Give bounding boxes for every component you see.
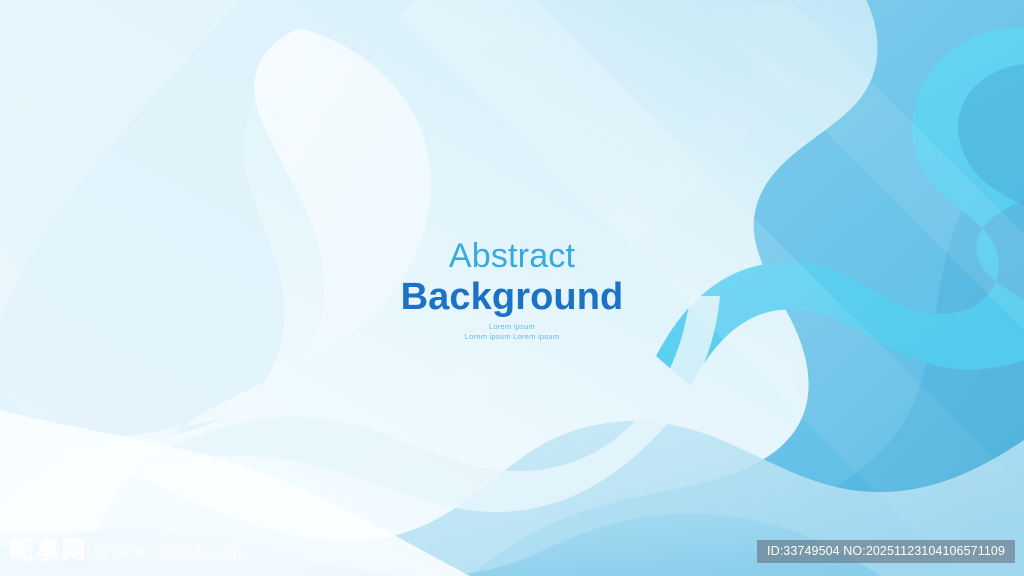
watermark-char-1: 昵	[10, 538, 33, 564]
image-id-text: ID:33749504 NO:20251123104106571109	[767, 540, 1005, 563]
watermark-logo-cjk: 昵 享 网	[10, 538, 85, 564]
artboard	[0, 0, 1024, 576]
watermark-char-2: 享	[36, 538, 59, 564]
abstract-background-artwork: Abstract Background Lorem ipsum Lorem ip…	[0, 0, 1024, 576]
watermark-url: www.nipic.cn	[93, 539, 249, 563]
background-illustration	[0, 0, 1024, 576]
watermark-char-3: 网	[62, 538, 85, 564]
image-id-badge: ID:33749504 NO:20251123104106571109	[757, 540, 1015, 563]
nipic-watermark: 昵 享 网 www.nipic.cn	[10, 538, 249, 564]
